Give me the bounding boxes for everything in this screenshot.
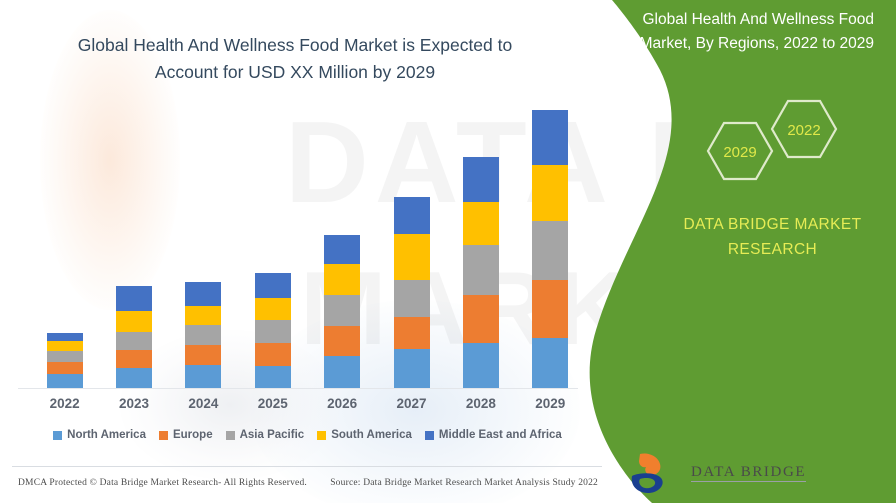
legend-item[interactable]: South America (317, 429, 412, 441)
bar-segment (394, 280, 430, 317)
stacked-bar-chart (30, 110, 585, 388)
x-axis-label-2025: 2025 (242, 396, 304, 411)
bar-segment (255, 366, 291, 388)
stacked-bar-2024 (185, 282, 221, 388)
bar-segment (463, 245, 499, 295)
bar-segment (255, 273, 291, 297)
bar-segment (532, 338, 568, 388)
bar-segment (324, 235, 360, 264)
legend-swatch-icon (317, 431, 326, 440)
bar-segment (255, 343, 291, 365)
hexagon-badges: 2022 2029 (690, 95, 850, 185)
bar-segment (394, 317, 430, 349)
bar-column (242, 110, 304, 388)
x-axis-line (18, 388, 578, 389)
chart-bars (30, 110, 585, 388)
bar-segment (532, 221, 568, 279)
legend-swatch-icon (425, 431, 434, 440)
bar-segment (324, 264, 360, 295)
bar-segment (463, 202, 499, 244)
chart-legend: North AmericaEuropeAsia PacificSouth Ame… (30, 429, 585, 441)
bar-column (519, 110, 581, 388)
page-title: Global Health And Wellness Food Market i… (60, 32, 530, 85)
bar-segment (116, 350, 152, 368)
stacked-bar-2026 (324, 235, 360, 388)
bar-segment (463, 295, 499, 344)
stacked-bar-2029 (532, 110, 568, 388)
footer: DMCA Protected © Data Bridge Market Rese… (18, 478, 598, 488)
bar-segment (324, 295, 360, 327)
brand-line-2: RESEARCH (660, 237, 885, 262)
stacked-bar-2025 (255, 273, 291, 388)
bar-segment (394, 197, 430, 234)
x-axis-label-2028: 2028 (450, 396, 512, 411)
bar-segment (255, 298, 291, 320)
footer-divider (12, 466, 602, 467)
stacked-bar-2028 (463, 157, 499, 388)
x-axis-label-2026: 2026 (311, 396, 373, 411)
x-axis-label-2023: 2023 (103, 396, 165, 411)
legend-label: Europe (173, 429, 213, 441)
infographic-canvas: DATA BR MARKET RESEARCH Global Health An… (0, 0, 896, 503)
stacked-bar-2027 (394, 197, 430, 388)
data-bridge-logo-icon (626, 450, 682, 496)
legend-label: South America (331, 429, 412, 441)
bar-segment (47, 351, 83, 362)
legend-item[interactable]: Europe (159, 429, 213, 441)
bar-segment (116, 332, 152, 350)
panel-title: Global Health And Wellness Food Market, … (624, 8, 874, 56)
x-axis-label-2029: 2029 (519, 396, 581, 411)
bar-segment (324, 326, 360, 356)
stacked-bar-2022 (47, 333, 83, 388)
legend-item[interactable]: Asia Pacific (226, 429, 305, 441)
legend-label: Asia Pacific (240, 429, 305, 441)
legend-swatch-icon (53, 431, 62, 440)
bar-segment (116, 311, 152, 332)
bar-column (450, 110, 512, 388)
bar-segment (185, 365, 221, 388)
x-axis-label-2027: 2027 (381, 396, 443, 411)
bar-segment (116, 368, 152, 388)
stacked-bar-2023 (116, 286, 152, 388)
bar-segment (185, 282, 221, 306)
bar-segment (394, 349, 430, 388)
bar-segment (532, 110, 568, 165)
bar-column (34, 110, 96, 388)
bar-segment (47, 341, 83, 351)
legend-label: North America (67, 429, 146, 441)
legend-swatch-icon (226, 431, 235, 440)
bar-segment (463, 343, 499, 388)
x-axis-label-2024: 2024 (172, 396, 234, 411)
legend-swatch-icon (159, 431, 168, 440)
bar-segment (116, 286, 152, 310)
footer-source: Source: Data Bridge Market Research Mark… (330, 478, 598, 488)
legend-label: Middle East and Africa (439, 429, 562, 441)
bar-column (311, 110, 373, 388)
bar-segment (324, 356, 360, 388)
footer-copyright: DMCA Protected © Data Bridge Market Rese… (18, 478, 307, 488)
bar-segment (47, 362, 83, 375)
bar-segment (532, 165, 568, 221)
bar-column (103, 110, 165, 388)
bar-segment (532, 280, 568, 338)
hexagon-2022-label: 2022 (787, 122, 820, 139)
bar-segment (463, 157, 499, 203)
hexagon-2029-label: 2029 (723, 144, 756, 161)
bar-segment (185, 306, 221, 325)
x-axis-label-2022: 2022 (34, 396, 96, 411)
bar-segment (255, 320, 291, 343)
brand-line-1: DATA BRIDGE MARKET (660, 212, 885, 237)
company-logo: DATA BRIDGE (626, 448, 876, 498)
bar-segment (185, 325, 221, 344)
bar-segment (394, 234, 430, 280)
bar-segment (185, 345, 221, 365)
bar-segment (47, 333, 83, 341)
legend-item[interactable]: Middle East and Africa (425, 429, 562, 441)
bar-column (381, 110, 443, 388)
legend-item[interactable]: North America (53, 429, 146, 441)
bar-segment (47, 374, 83, 388)
bar-column (172, 110, 234, 388)
x-axis-labels: 20222023202420252026202720282029 (30, 396, 585, 411)
brand-name: DATA BRIDGE MARKET RESEARCH (660, 212, 885, 262)
logo-wordmark: DATA BRIDGE (691, 464, 806, 483)
